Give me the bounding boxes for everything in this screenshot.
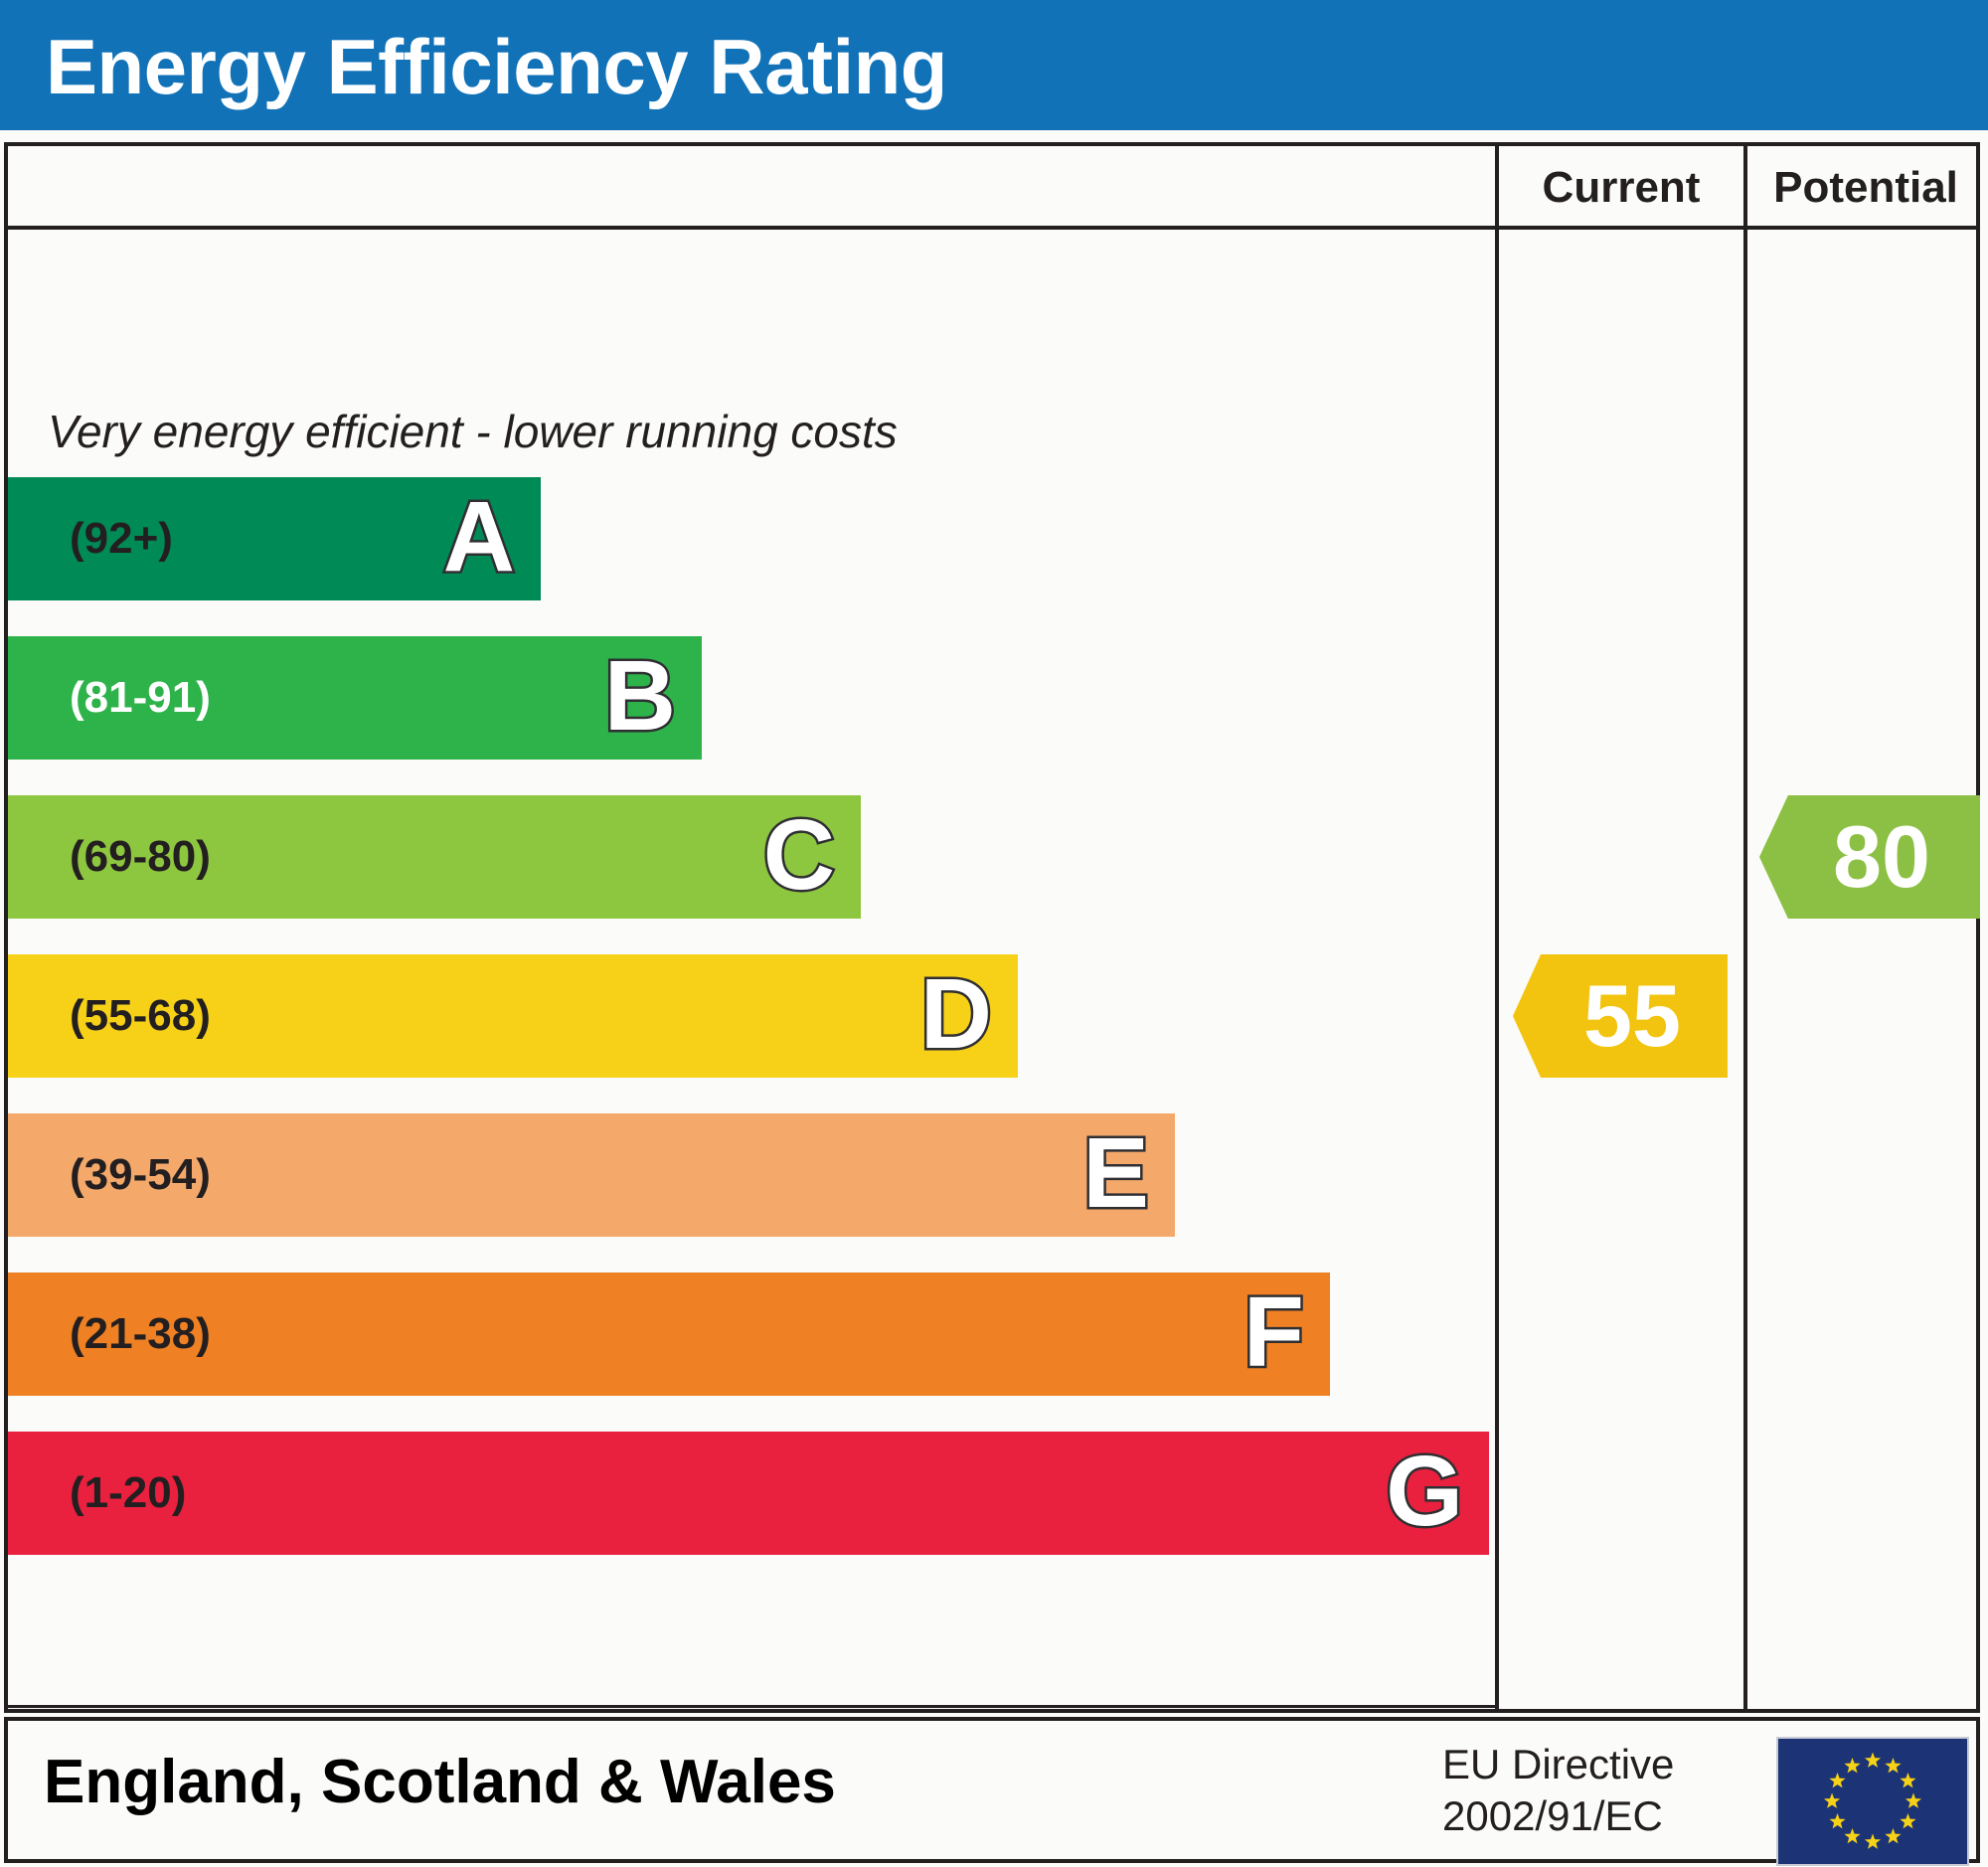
band-letter-g: G: [1386, 1442, 1463, 1541]
footer-region-label: England, Scotland & Wales: [44, 1747, 836, 1817]
band-range-g: (1-20): [70, 1468, 186, 1518]
potential-rating-value: 80: [1809, 813, 1930, 901]
footer-directive: EU Directive 2002/91/EC: [1442, 1739, 1674, 1842]
current-rating-arrow: 55: [1513, 954, 1728, 1078]
current-column-divider: [1495, 146, 1499, 1709]
rating-band-e: (39-54)E: [8, 1113, 1175, 1237]
rating-bands: (92+)A(81-91)B(69-80)C(55-68)D(39-54)E(2…: [8, 146, 1495, 1709]
band-letter-e: E: [1082, 1123, 1149, 1223]
rating-band-f: (21-38)F: [8, 1273, 1330, 1396]
title-bar: Energy Efficiency Rating: [0, 0, 1988, 130]
directive-line-2: 2002/91/EC: [1442, 1790, 1674, 1842]
page-title: Energy Efficiency Rating: [46, 22, 947, 112]
eu-flag-icon: [1776, 1737, 1969, 1866]
potential-rating-arrow: 80: [1759, 795, 1980, 919]
band-letter-c: C: [763, 805, 835, 905]
potential-column-divider: [1743, 146, 1747, 1709]
band-range-a: (92+): [70, 514, 173, 564]
band-range-f: (21-38): [70, 1309, 211, 1359]
band-letter-a: A: [443, 487, 515, 587]
current-rating-value: 55: [1560, 972, 1681, 1060]
directive-line-1: EU Directive: [1442, 1739, 1674, 1790]
band-letter-f: F: [1243, 1282, 1304, 1382]
band-range-d: (55-68): [70, 991, 211, 1041]
band-range-b: (81-91): [70, 673, 211, 723]
column-header-current: Current: [1499, 158, 1743, 218]
band-range-c: (69-80): [70, 832, 211, 882]
rating-band-c: (69-80)C: [8, 795, 861, 919]
rating-band-g: (1-20)G: [8, 1432, 1489, 1555]
band-letter-b: B: [604, 646, 676, 746]
band-letter-d: D: [920, 964, 992, 1064]
energy-efficiency-certificate: Energy Efficiency Rating Current Potenti…: [0, 0, 1988, 1867]
rating-band-a: (92+)A: [8, 477, 541, 600]
rating-band-b: (81-91)B: [8, 636, 702, 760]
footer: England, Scotland & Wales EU Directive 2…: [4, 1717, 1980, 1863]
rating-band-d: (55-68)D: [8, 954, 1018, 1078]
rating-table: Current Potential Very energy efficient …: [4, 142, 1980, 1713]
column-header-potential: Potential: [1747, 158, 1984, 218]
band-range-e: (39-54): [70, 1150, 211, 1200]
